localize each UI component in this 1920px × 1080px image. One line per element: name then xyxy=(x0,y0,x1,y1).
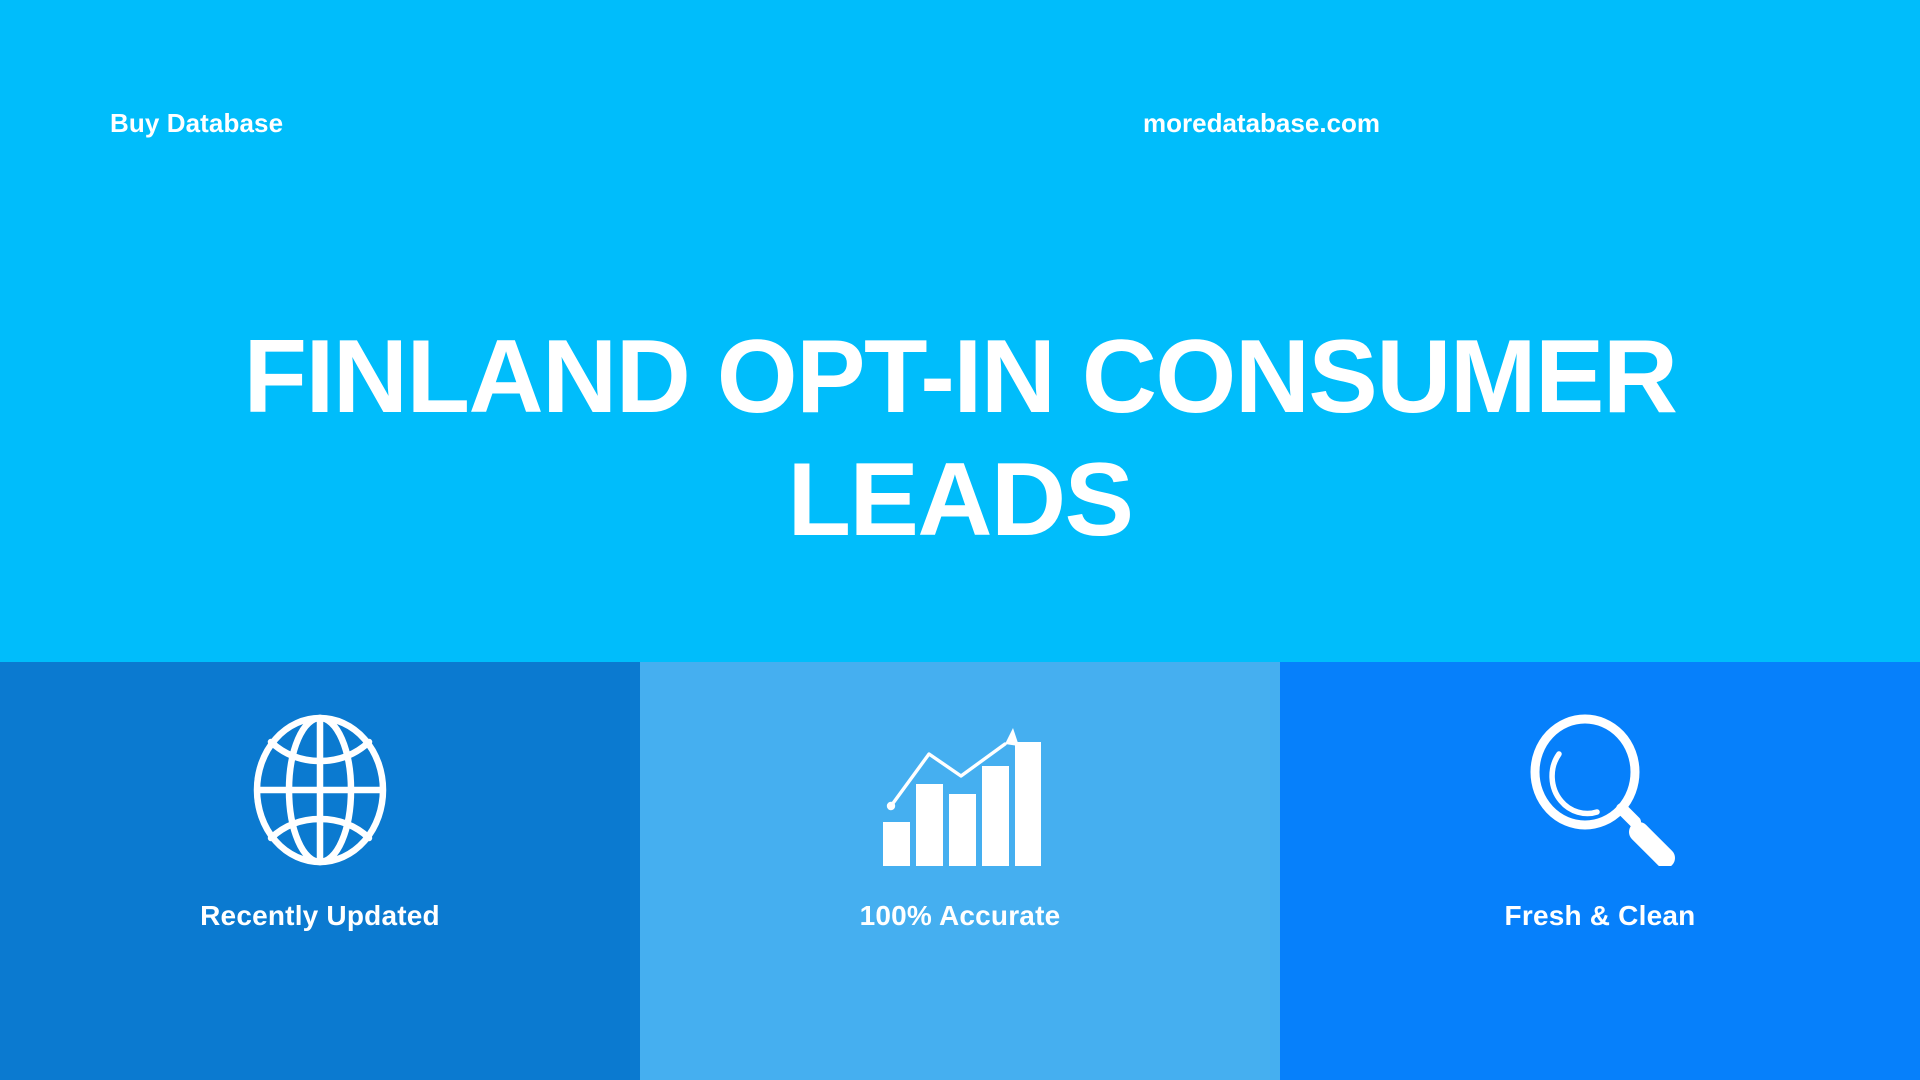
feature-label: 100% Accurate xyxy=(860,900,1061,932)
feature-panel-recently-updated: Recently Updated xyxy=(0,662,640,1080)
feature-label: Fresh & Clean xyxy=(1505,900,1696,932)
feature-label: Recently Updated xyxy=(200,900,440,932)
site-label-wrap: moredatabase.com xyxy=(0,108,1920,139)
site-url-label: moredatabase.com xyxy=(1143,108,1380,138)
hero-section: Buy Database moredatabase.com FINLAND OP… xyxy=(0,0,1920,662)
promo-banner: Buy Database moredatabase.com FINLAND OP… xyxy=(0,0,1920,1080)
magnifier-icon xyxy=(1525,712,1675,868)
growth-bar-chart-icon xyxy=(879,712,1041,868)
globe-icon xyxy=(250,712,390,868)
feature-panel-100-accurate: 100% Accurate xyxy=(640,662,1280,1080)
page-title: FINLAND OPT-IN CONSUMER LEADS xyxy=(0,316,1920,561)
feature-panel-fresh-clean: Fresh & Clean xyxy=(1280,662,1920,1080)
feature-panels: Recently Updated xyxy=(0,662,1920,1080)
